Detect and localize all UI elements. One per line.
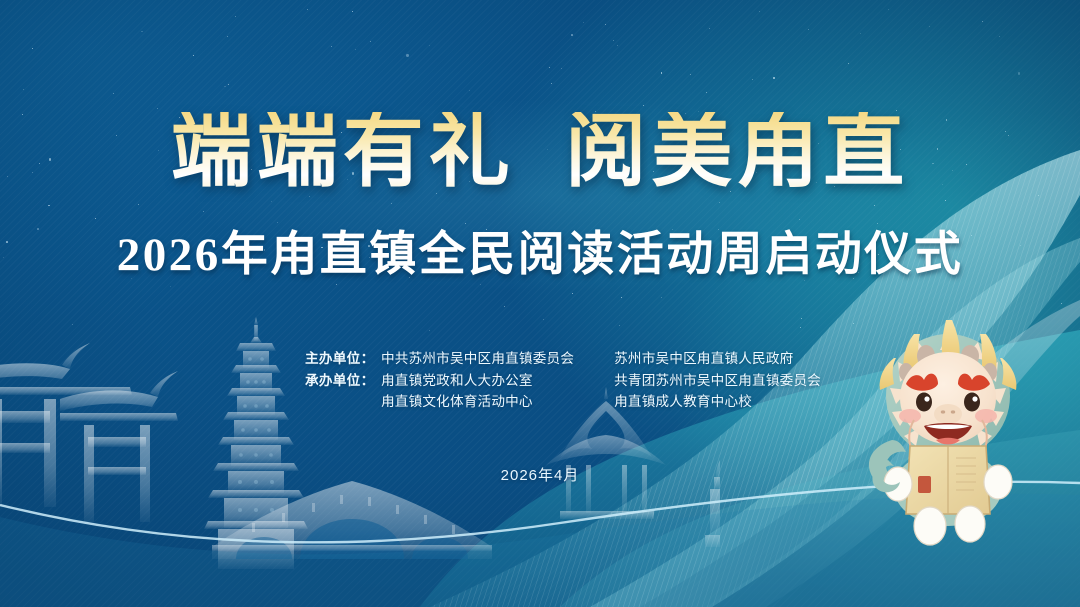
credit-row: 承办单位： 甪直镇党政和人大办公室: [305, 370, 574, 392]
mascot-head-ruff-shape: [890, 334, 1006, 446]
credit-value: 中共苏州市吴中区甪直镇委员会: [381, 348, 574, 370]
credit-row: 共青团苏州市吴中区甪直镇委员会: [614, 370, 821, 392]
pagoda-window-dots-shape: [238, 357, 274, 512]
paifang-archway-shape: [0, 343, 178, 522]
poster-canvas: 端端有礼 阅美甪直 2026年甪直镇全民阅读活动周启动仪式 主办单位： 中共苏州…: [0, 0, 1080, 607]
credit-value: 苏州市吴中区甪直镇人民政府: [614, 348, 793, 370]
event-date: 2026年4月: [0, 464, 1080, 485]
vignette-overlay: [0, 0, 1080, 607]
stupa-shape: [705, 443, 720, 547]
diagonal-stripe-texture: [0, 0, 1080, 607]
credit-row: 主办单位： 中共苏州市吴中区甪直镇委员会: [305, 348, 574, 370]
organizer-credits: 主办单位： 中共苏州市吴中区甪直镇委员会 承办单位： 甪直镇党政和人大办公室 主…: [305, 348, 821, 413]
title-backlight-glow: [120, 80, 980, 310]
water-line-curve: [0, 427, 1080, 607]
credit-value: 甪直镇文化体育活动中心: [381, 391, 533, 413]
pagoda-tower-shape: [204, 317, 308, 569]
bridge-rail-posts-shape: [252, 495, 455, 534]
credit-value: 甪直镇党政和人大办公室: [381, 370, 533, 392]
dragon-mascot-reading-book: [848, 300, 1058, 550]
page-subtitle: 2026年甪直镇全民阅读活动周启动仪式: [0, 232, 1080, 279]
credit-value: 共青团苏州市吴中区甪直镇委员会: [614, 370, 821, 392]
arch-bridge-shape: [212, 481, 492, 559]
mascot-mane-shape: [869, 334, 1010, 526]
mascot-horns-shape: [880, 320, 1017, 390]
credits-left-column: 主办单位： 中共苏州市吴中区甪直镇委员会 承办单位： 甪直镇党政和人大办公室 主…: [305, 348, 574, 413]
credit-row: 苏州市吴中区甪直镇人民政府: [614, 348, 821, 370]
credit-value: 甪直镇成人教育中心校: [614, 391, 752, 413]
credits-right-column: 苏州市吴中区甪直镇人民政府 共青团苏州市吴中区甪直镇委员会 甪直镇成人教育中心校: [614, 348, 821, 413]
mascot-nubs-shape: [899, 345, 997, 395]
credit-row: 甪直镇成人教育中心校: [614, 391, 821, 413]
credit-label: 主办单位：: [305, 348, 381, 370]
credit-row: 主办单位： 甪直镇文化体育活动中心: [305, 391, 574, 413]
star-speck-layer: [0, 0, 1080, 607]
credit-label: 承办单位：: [305, 370, 381, 392]
page-title: 端端有礼 阅美甪直: [0, 112, 1080, 193]
wave-ribbon-layer: [0, 0, 1080, 607]
mascot-face-shape: [899, 352, 997, 450]
